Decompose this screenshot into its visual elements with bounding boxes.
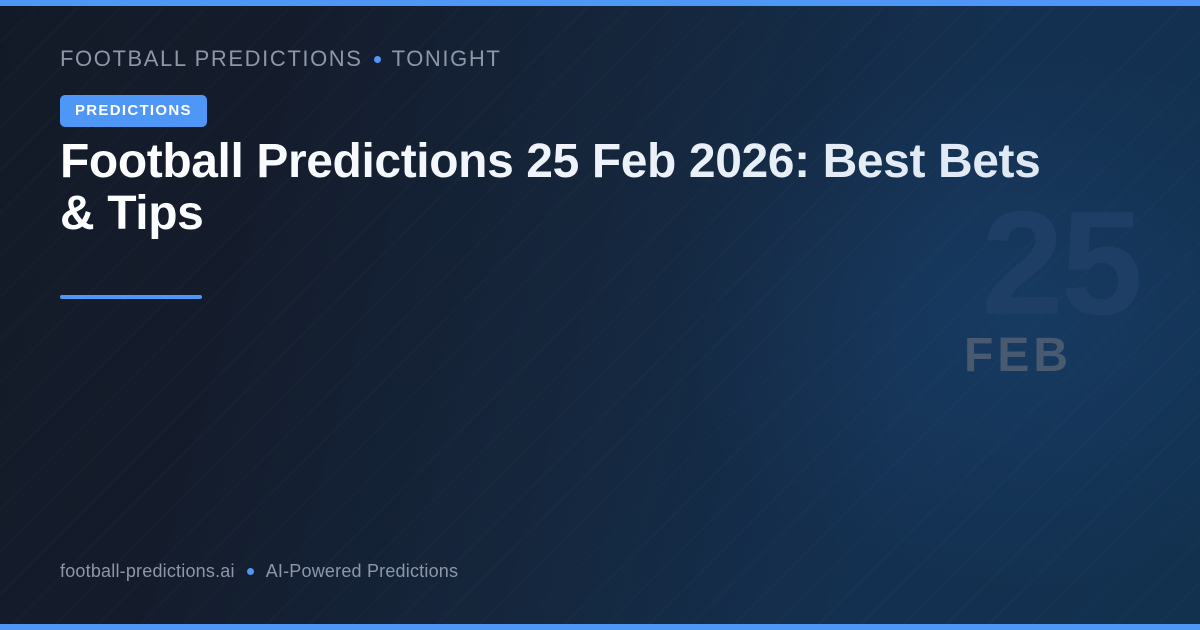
footer-site-label: football-predictions.ai bbox=[60, 561, 235, 582]
category-badge[interactable]: PREDICTIONS bbox=[60, 95, 207, 127]
footer-tagline-label: AI-Powered Predictions bbox=[266, 561, 459, 582]
eyebrow-primary-label: FOOTBALL PREDICTIONS bbox=[60, 46, 363, 72]
eyebrow: FOOTBALL PREDICTIONS TONIGHT bbox=[60, 46, 501, 72]
eyebrow-secondary-label: TONIGHT bbox=[392, 46, 502, 72]
datestamp: 25 FEB bbox=[880, 205, 1140, 377]
datestamp-day: 25 bbox=[880, 205, 1140, 323]
share-card: FOOTBALL PREDICTIONS TONIGHT PREDICTIONS… bbox=[0, 0, 1200, 630]
bullet-dot-icon bbox=[247, 568, 254, 575]
bullet-dot-icon bbox=[374, 56, 381, 63]
accent-divider bbox=[60, 295, 202, 299]
footer: football-predictions.ai AI-Powered Predi… bbox=[60, 561, 458, 582]
